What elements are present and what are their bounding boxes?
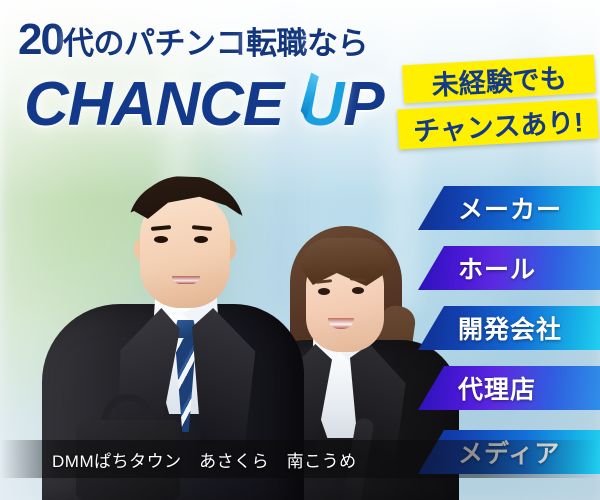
headline-kanji: 転職 bbox=[246, 26, 307, 61]
headline-mid: 代の bbox=[63, 26, 124, 61]
headline-number: 20 bbox=[18, 15, 63, 64]
headline-tail: なら bbox=[307, 26, 368, 61]
logo-letter-u: U bbox=[299, 70, 343, 139]
advertisement-banner[interactable]: 20代のパチンコ転職なら CHANCE UP 未経験でも チャンスあり! メーカ… bbox=[0, 0, 600, 500]
category-button-agency[interactable]: 代理店 bbox=[418, 366, 600, 410]
woman-eye-left bbox=[318, 288, 330, 295]
man-eye-left bbox=[154, 236, 168, 243]
category-button-hall[interactable]: ホール bbox=[418, 246, 600, 290]
logo-part-two: P bbox=[343, 70, 383, 139]
man-eye-right bbox=[194, 236, 208, 243]
logo-part-one: CHANCE bbox=[24, 70, 299, 139]
woman-eye-right bbox=[352, 287, 364, 294]
category-button-developer[interactable]: 開発会社 bbox=[418, 306, 600, 350]
category-button-maker[interactable]: メーカー bbox=[418, 186, 600, 230]
headline-text: 20代のパチンコ転職なら bbox=[18, 18, 368, 62]
man-mouth bbox=[172, 276, 200, 284]
headline-katakana: パチンコ bbox=[124, 26, 246, 61]
caption-bar: DMMぱちタウン あさくら 南こうめ bbox=[0, 440, 600, 478]
caption-text: DMMぱちタウン あさくら 南こうめ bbox=[52, 447, 357, 472]
logo-chance-up: CHANCE UP bbox=[24, 74, 384, 136]
